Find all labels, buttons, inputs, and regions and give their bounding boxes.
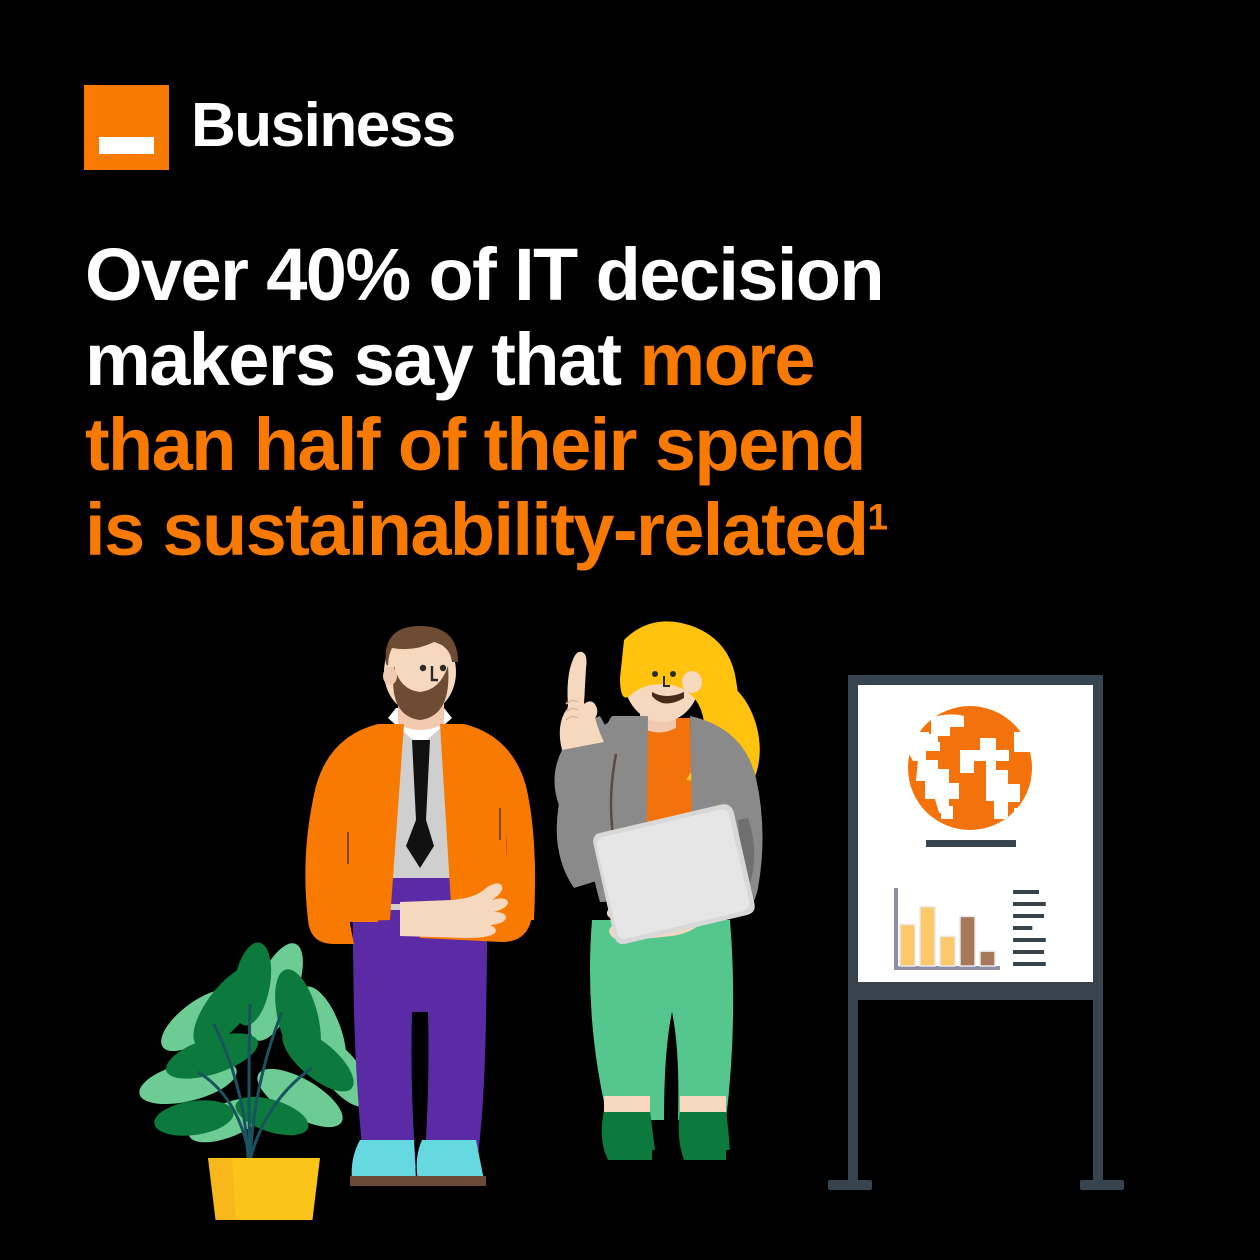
chart-annotation-line	[1013, 962, 1046, 966]
chart-bar	[900, 925, 915, 966]
chart-annotation-line	[1013, 914, 1044, 918]
man-figure	[305, 626, 535, 1186]
headline-line-3-text: than half of their spend	[85, 403, 865, 486]
headline-line-2: makers say that more	[85, 317, 1045, 402]
logo-white-bar	[99, 137, 154, 154]
chart-annotation-line	[1013, 902, 1046, 906]
chart-annotation-line	[1013, 926, 1032, 930]
chart-annotation-line	[1013, 938, 1046, 942]
chart-annotation-line	[1013, 890, 1039, 894]
orange-square-logo-icon	[84, 85, 169, 170]
potted-plant	[135, 936, 382, 1220]
headline-line-1-text: Over 40% of IT decision	[85, 233, 883, 316]
headline-line-3: than half of their spend	[85, 402, 1045, 487]
chart-bar	[980, 951, 995, 966]
page-title: Over 40% of IT decision makers say that …	[85, 232, 1045, 572]
hero-illustration	[0, 620, 1260, 1220]
presentation-board	[828, 675, 1124, 1190]
headline-line-1: Over 40% of IT decision	[85, 232, 1045, 317]
board-title-bar	[926, 840, 1016, 847]
chart-bar	[960, 916, 975, 966]
headline-line-4: is sustainability-related1	[85, 487, 1045, 572]
headline-line-2-text: makers say that	[85, 318, 639, 401]
woman-figure	[554, 621, 762, 1162]
chart-annotation-line	[1013, 950, 1044, 954]
brand-logo[interactable]: Business	[84, 85, 455, 170]
poster-canvas: Business Over 40% of IT decision makers …	[0, 0, 1260, 1260]
headline-line-4-text: is sustainability-related	[85, 488, 868, 571]
footnote-superscript: 1	[868, 496, 887, 537]
chart-bar	[940, 936, 955, 966]
chart-bar	[920, 907, 935, 966]
brand-name: Business	[191, 95, 455, 161]
headline-line-2-accent: more	[639, 318, 814, 401]
